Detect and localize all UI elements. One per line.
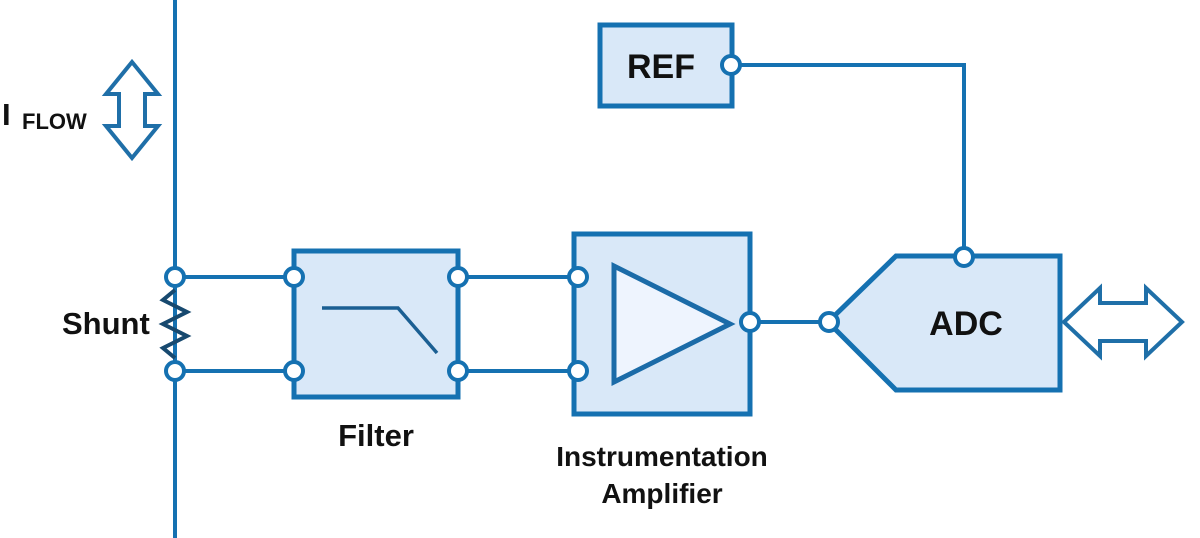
adc-label: ADC <box>929 305 1003 343</box>
filter-block[interactable]: Filter <box>294 251 458 453</box>
node-filter-in-top[interactable] <box>285 268 303 286</box>
node-amp-out[interactable] <box>741 313 759 331</box>
node-adc-ref-in[interactable] <box>955 248 973 266</box>
node-shunt-bottom[interactable] <box>166 362 184 380</box>
diagram-canvas: I FLOW Shunt Filter <box>0 0 1200 538</box>
wire-ref-out-to-adc-top <box>741 65 964 248</box>
current-subscript-text: FLOW <box>22 109 87 134</box>
node-ref-out[interactable] <box>722 56 740 74</box>
node-amp-in-negative[interactable] <box>569 362 587 380</box>
double-arrow-horizontal-icon <box>1064 288 1182 356</box>
filter-label: Filter <box>338 418 414 453</box>
shunt-resistor: Shunt <box>62 290 187 358</box>
node-filter-out-bottom[interactable] <box>449 362 467 380</box>
node-filter-out-top[interactable] <box>449 268 467 286</box>
amplifier-label-line2: Amplifier <box>601 478 722 509</box>
node-shunt-top[interactable] <box>166 268 184 286</box>
block-diagram-root: I FLOW Shunt Filter <box>0 0 1200 538</box>
ref-label: REF <box>627 48 695 86</box>
current-flow-label: I FLOW <box>2 97 87 134</box>
filter-block-body[interactable] <box>294 251 458 397</box>
node-adc-in[interactable] <box>820 313 838 331</box>
wires-filter-to-amplifier <box>467 277 569 371</box>
current-flow-arrow <box>106 62 158 158</box>
node-filter-in-bottom[interactable] <box>285 362 303 380</box>
node-amp-in-positive[interactable] <box>569 268 587 286</box>
current-symbol-text: I <box>2 97 11 132</box>
adc-block[interactable]: ADC <box>828 256 1060 390</box>
digital-output-arrow <box>1064 288 1182 356</box>
amplifier-label-line1: Instrumentation <box>556 441 768 472</box>
double-arrow-vertical-icon <box>106 62 158 158</box>
wire-ref-to-adc <box>741 65 964 248</box>
shunt-label: Shunt <box>62 306 150 341</box>
ref-block[interactable]: REF <box>600 25 732 106</box>
wires-shunt-to-filter <box>184 277 285 371</box>
